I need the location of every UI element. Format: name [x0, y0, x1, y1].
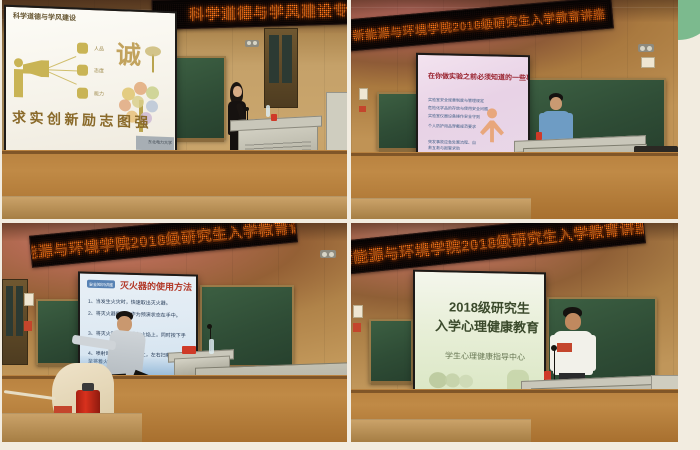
door — [264, 28, 298, 108]
stage-step — [351, 419, 531, 442]
chalkboard — [174, 56, 226, 140]
lecture-hall-scene-3: 新能源与环境学院2018级研究生入学教育讲座 — [2, 223, 347, 442]
slide-slogan: 求 实 创 新 励 志 图 强 — [12, 107, 149, 132]
slide-figure-body — [480, 120, 504, 143]
emergency-light — [320, 250, 336, 258]
stage-step — [2, 413, 142, 442]
red-case — [182, 346, 196, 354]
node-label-2: 态度 — [94, 67, 104, 74]
presenter-head — [550, 97, 562, 110]
microphone-stand — [554, 350, 555, 380]
calligraphy-cheng: 诚 — [116, 35, 141, 72]
led-pixel-grid — [153, 0, 347, 29]
photo-top-left[interactable]: 科学道德与学风建设专题讲座 — [2, 0, 347, 219]
photo-bottom-left[interactable]: 新能源与环境学院2018级研究生入学教育讲座 — [2, 223, 347, 442]
chalkboard-left — [36, 299, 84, 365]
wall-poster — [641, 57, 655, 68]
lecture-hall-scene-2: 新能源与环境学院2018级研究生入学教育讲座 — [351, 0, 678, 219]
node-label-3: 能力 — [94, 90, 104, 97]
wall-cabinet — [326, 92, 347, 154]
slide-bullet-1: 1、当发生火灾时，快速取出灭火器。 — [88, 298, 171, 307]
node-box-3 — [77, 87, 88, 98]
megaphone-person-head — [14, 58, 23, 67]
chalkboard-left — [369, 319, 413, 383]
wall-sign-red — [24, 321, 32, 331]
microphone-stand — [247, 110, 248, 120]
collage-page: 科学道德与学风建设专题讲座 — [0, 0, 700, 450]
slide-title: 在你做实验之前必须知道的一些事情 — [428, 71, 530, 83]
wall-notice — [353, 305, 363, 318]
slide-figure-head — [487, 108, 497, 118]
small-tree-canopy — [145, 46, 161, 57]
microphone-head — [245, 107, 249, 111]
slide-title-line1: 2018级研究生 — [449, 296, 530, 317]
slide-deco-circle-3 — [459, 375, 473, 388]
tshirt-logo — [557, 343, 572, 352]
lecture-hall-scene-1: 科学道德与学风建设专题讲座 — [2, 0, 347, 219]
microphone-head — [207, 324, 212, 329]
red-cup — [544, 371, 551, 380]
node-box-1 — [77, 42, 88, 53]
projection-screen: 科学道德与学风建设 人品 态度 能力 诚 — [4, 5, 177, 161]
photo-collage-grid: 科学道德与学风建设专题讲座 — [2, 0, 696, 442]
slide-bullet-2: 危险化学品的存放与使用安全问题 — [428, 105, 488, 112]
slide-title-line2: 入学心理健康教育 — [435, 315, 539, 336]
wall-sign-red — [353, 323, 361, 332]
lecture-hall-scene-4: 新能源与环境学院2018级研究生入学教育讲座 2018级研究生 入学心理健康教育… — [351, 223, 678, 442]
slide-subtitle: 学生心理健康指导中心 — [445, 350, 525, 363]
slide-bullet-1: 实验室安全规章制度与管理规定 — [428, 97, 484, 104]
microphone-head — [551, 345, 557, 351]
stage-step — [2, 196, 347, 219]
node-label-1: 人品 — [94, 45, 104, 52]
slide-footer-text: 东北电力大学 — [148, 139, 172, 146]
slide-bullet-5: 突发事故应急处置流程、自救互救与报警求助 — [428, 139, 476, 152]
photo-top-right[interactable]: 新能源与环境学院2018级研究生入学教育讲座 — [351, 0, 678, 219]
projection-screen: 2018级研究生 入学心理健康教育 学生心理健康指导中心 — [413, 270, 546, 399]
wall-notice — [359, 88, 368, 100]
presenter-person — [551, 307, 595, 389]
slide-badge-text: 安全知识讲座 — [89, 282, 113, 289]
slide-deco-circle-2 — [445, 373, 460, 387]
water-bottle — [209, 339, 214, 354]
presenter-head — [565, 313, 581, 330]
red-cup — [271, 114, 277, 121]
wall-sign-red — [359, 106, 366, 112]
emergency-light — [638, 44, 654, 52]
emergency-light — [245, 40, 259, 47]
presenter-head — [233, 86, 242, 97]
water-bottle — [266, 105, 270, 117]
slide-header: 科学道德与学风建设 — [13, 11, 76, 23]
wall-notice — [24, 293, 34, 306]
red-cup — [536, 132, 542, 140]
photo-bottom-right[interactable]: 新能源与环境学院2018级研究生入学教育讲座 2018级研究生 入学心理健康教育… — [351, 223, 678, 442]
slide-title: 灭火器的使用方法 — [120, 279, 192, 294]
stage-step — [351, 198, 531, 219]
small-tree-trunk — [152, 54, 154, 72]
slide-bullet-3: 实验室仪器设备操作安全守则 — [428, 113, 480, 120]
slide-bullet-4: 个人防护用品穿戴规范要求 — [428, 123, 476, 130]
